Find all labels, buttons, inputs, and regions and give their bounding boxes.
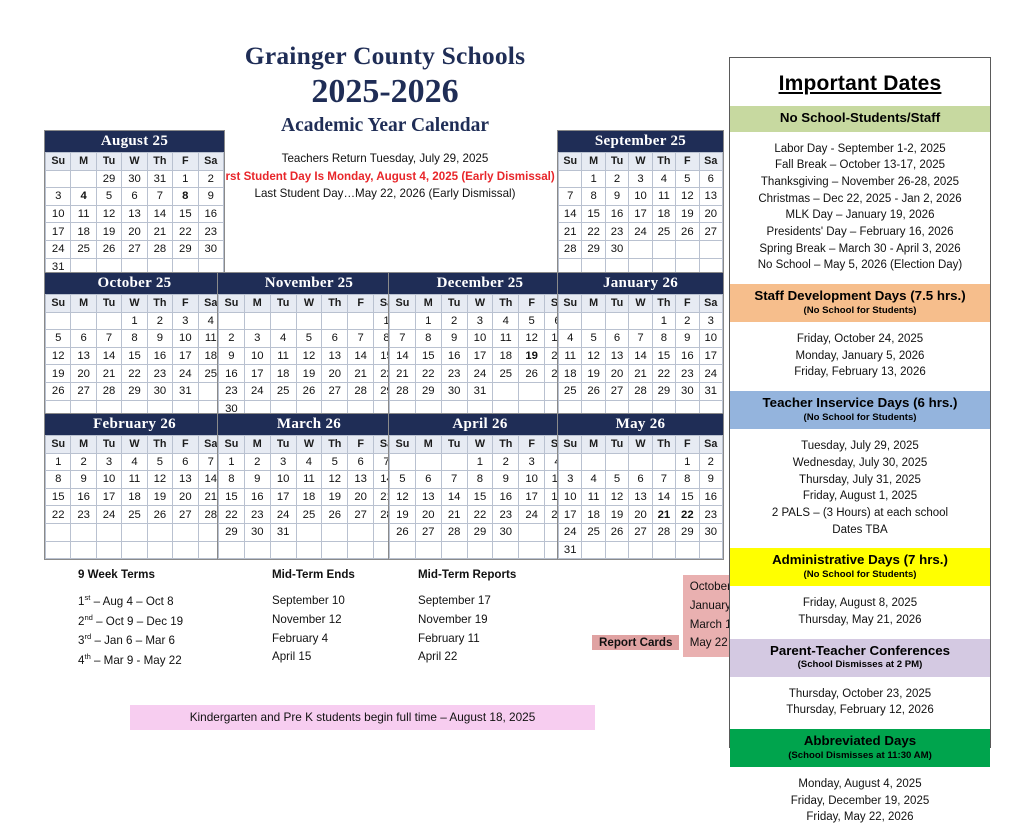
day-cell[interactable]: 1	[582, 170, 605, 188]
day-cell[interactable]: 13	[71, 347, 96, 365]
day-cell[interactable]: 3	[629, 170, 652, 188]
day-cell[interactable]: 20	[629, 506, 652, 524]
day-cell[interactable]: 1	[122, 312, 147, 330]
day-cell[interactable]: 23	[605, 223, 628, 241]
day-cell[interactable]: 27	[629, 523, 652, 541]
day-cell[interactable]: 26	[582, 382, 605, 400]
week-row: 45678910	[559, 330, 723, 348]
day-cell[interactable]: 27	[173, 506, 198, 524]
day-cell[interactable]: 17	[699, 347, 722, 365]
day-cell[interactable]: 2	[244, 453, 270, 471]
day-cell[interactable]: 20	[122, 223, 147, 241]
day-cell[interactable]: 1	[46, 453, 71, 471]
day-cell[interactable]: 21	[348, 365, 374, 383]
day-cell[interactable]: 10	[270, 471, 296, 489]
day-cell[interactable]: 3	[96, 453, 121, 471]
day-cell[interactable]: 13	[348, 471, 374, 489]
day-cell-empty	[559, 312, 582, 330]
day-cell[interactable]: 14	[96, 347, 121, 365]
day-cell[interactable]: 16	[676, 347, 699, 365]
day-cell[interactable]: 12	[390, 488, 416, 506]
day-cell[interactable]: 6	[322, 330, 348, 348]
day-cell[interactable]: 8	[582, 188, 605, 206]
day-cell[interactable]: 18	[122, 488, 147, 506]
day-cell[interactable]: 10	[519, 471, 545, 489]
week-row: 10111213141516	[559, 488, 723, 506]
legend-date-item: Wednesday, July 30, 2025	[734, 455, 986, 472]
day-cell[interactable]: 3	[559, 471, 582, 489]
day-cell[interactable]: 25	[122, 506, 147, 524]
day-cell[interactable]: 26	[519, 365, 545, 383]
weekday-header: Th	[147, 436, 172, 454]
day-cell[interactable]: 20	[322, 365, 348, 383]
day-cell[interactable]: 19	[605, 506, 628, 524]
day-cell[interactable]: 7	[652, 471, 675, 489]
day-cell[interactable]: 28	[390, 382, 416, 400]
day-cell[interactable]: 5	[296, 330, 322, 348]
day-cell[interactable]: 17	[270, 488, 296, 506]
day-cell[interactable]: 4	[296, 453, 322, 471]
day-cell[interactable]: 5	[390, 471, 416, 489]
day-cell[interactable]: 13	[322, 347, 348, 365]
day-cell[interactable]: 8	[46, 471, 71, 489]
day-cell[interactable]: 14	[390, 347, 416, 365]
day-cell[interactable]: 19	[390, 506, 416, 524]
day-cell[interactable]: 21	[559, 223, 582, 241]
day-cell[interactable]: 19	[46, 365, 71, 383]
day-cell[interactable]: 12	[46, 347, 71, 365]
day-cell[interactable]: 9	[198, 188, 223, 206]
day-cell[interactable]: 28	[441, 523, 467, 541]
day-cell[interactable]: 22	[676, 506, 699, 524]
day-cell[interactable]: 21	[441, 506, 467, 524]
day-cell[interactable]: 31	[173, 382, 198, 400]
day-cell[interactable]: 22	[122, 365, 147, 383]
day-cell[interactable]: 24	[519, 506, 545, 524]
day-cell[interactable]: 29	[219, 523, 245, 541]
day-cell[interactable]: 2	[441, 312, 467, 330]
day-cell[interactable]: 9	[699, 471, 722, 489]
day-cell[interactable]: 18	[652, 205, 675, 223]
week-row: 12	[559, 453, 723, 471]
day-cell[interactable]: 15	[652, 347, 675, 365]
day-cell[interactable]: 3	[244, 330, 270, 348]
day-cell[interactable]: 18	[559, 365, 582, 383]
day-cell[interactable]: 17	[46, 223, 71, 241]
day-cell[interactable]: 23	[244, 506, 270, 524]
day-cell[interactable]: 30	[493, 523, 519, 541]
week-row: 123456	[559, 170, 723, 188]
day-cell[interactable]: 7	[348, 330, 374, 348]
day-cell[interactable]: 13	[699, 188, 722, 206]
day-cell[interactable]: 25	[493, 365, 519, 383]
day-cell[interactable]: 19	[519, 347, 545, 365]
day-cell[interactable]: 13	[415, 488, 441, 506]
day-cell[interactable]: 4	[582, 471, 605, 489]
day-cell[interactable]: 8	[219, 471, 245, 489]
day-cell[interactable]: 9	[676, 330, 699, 348]
day-cell[interactable]: 3	[173, 312, 198, 330]
day-cell[interactable]: 9	[71, 471, 96, 489]
day-cell[interactable]: 10	[559, 488, 582, 506]
day-cell[interactable]: 10	[629, 188, 652, 206]
month-block: October 25SuMTuWThFSa1234567891011121314…	[44, 272, 225, 419]
day-cell[interactable]: 4	[71, 188, 96, 206]
day-cell[interactable]: 25	[71, 240, 96, 258]
day-cell[interactable]: 6	[629, 471, 652, 489]
day-cell[interactable]: 31	[467, 382, 493, 400]
day-cell[interactable]: 23	[441, 365, 467, 383]
day-cell[interactable]: 15	[467, 488, 493, 506]
day-cell[interactable]: 14	[147, 205, 172, 223]
day-cell[interactable]: 22	[173, 223, 198, 241]
day-cell[interactable]: 26	[296, 382, 322, 400]
day-cell[interactable]: 12	[296, 347, 322, 365]
day-cell[interactable]: 30	[244, 523, 270, 541]
day-cell[interactable]: 4	[493, 312, 519, 330]
day-cell[interactable]: 23	[198, 223, 223, 241]
day-cell[interactable]: 11	[582, 488, 605, 506]
day-cell[interactable]: 24	[629, 223, 652, 241]
day-cell[interactable]: 22	[219, 506, 245, 524]
day-cell[interactable]: 27	[699, 223, 722, 241]
day-cell[interactable]: 30	[198, 240, 223, 258]
day-cell[interactable]: 14	[629, 347, 652, 365]
day-cell[interactable]: 23	[219, 382, 245, 400]
day-cell[interactable]: 14	[348, 347, 374, 365]
day-cell[interactable]: 16	[441, 347, 467, 365]
day-cell[interactable]: 4	[122, 453, 147, 471]
day-cell[interactable]: 7	[441, 471, 467, 489]
day-cell[interactable]: 10	[96, 471, 121, 489]
day-cell[interactable]: 14	[652, 488, 675, 506]
day-cell[interactable]: 11	[296, 471, 322, 489]
day-cell[interactable]: 22	[46, 506, 71, 524]
day-cell[interactable]: 12	[322, 471, 348, 489]
day-cell[interactable]: 8	[415, 330, 441, 348]
day-cell[interactable]: 11	[652, 188, 675, 206]
day-cell[interactable]: 21	[390, 365, 416, 383]
day-cell[interactable]: 18	[71, 223, 96, 241]
day-cell[interactable]: 5	[605, 471, 628, 489]
day-cell[interactable]: 24	[46, 240, 71, 258]
day-cell[interactable]: 23	[147, 365, 172, 383]
day-cell[interactable]: 11	[559, 347, 582, 365]
day-cell[interactable]: 11	[493, 330, 519, 348]
day-cell[interactable]: 30	[676, 382, 699, 400]
day-cell[interactable]: 17	[467, 347, 493, 365]
day-cell[interactable]: 29	[415, 382, 441, 400]
day-cell[interactable]: 2	[71, 453, 96, 471]
day-cell[interactable]: 24	[699, 365, 722, 383]
weekday-header: W	[122, 153, 147, 171]
day-cell[interactable]: 29	[173, 240, 198, 258]
day-cell[interactable]: 5	[322, 453, 348, 471]
day-cell[interactable]: 2	[147, 312, 172, 330]
day-cell[interactable]: 30	[147, 382, 172, 400]
day-cell[interactable]: 23	[699, 506, 722, 524]
day-cell[interactable]: 9	[605, 188, 628, 206]
day-cell[interactable]: 12	[676, 188, 699, 206]
day-cell[interactable]: 25	[652, 223, 675, 241]
day-cell[interactable]: 30	[441, 382, 467, 400]
day-cell[interactable]: 7	[629, 330, 652, 348]
day-cell[interactable]: 5	[582, 330, 605, 348]
day-cell[interactable]: 17	[629, 205, 652, 223]
day-cell[interactable]: 25	[582, 523, 605, 541]
day-cell[interactable]: 3	[270, 453, 296, 471]
day-cell[interactable]: 1	[173, 170, 198, 188]
day-cell[interactable]: 28	[559, 240, 582, 258]
day-cell[interactable]: 29	[96, 170, 121, 188]
day-cell[interactable]: 14	[559, 205, 582, 223]
day-cell[interactable]: 19	[96, 223, 121, 241]
day-cell[interactable]: 24	[173, 365, 198, 383]
day-cell[interactable]: 1	[676, 453, 699, 471]
day-cell[interactable]: 20	[71, 365, 96, 383]
day-cell[interactable]: 15	[415, 347, 441, 365]
day-cell[interactable]: 1	[219, 453, 245, 471]
day-cell[interactable]: 16	[71, 488, 96, 506]
day-cell[interactable]: 12	[519, 330, 545, 348]
day-cell[interactable]: 26	[390, 523, 416, 541]
legend-date-item: Fall Break – October 13-17, 2025	[734, 157, 986, 174]
day-cell[interactable]: 12	[147, 471, 172, 489]
weekday-header: Tu	[441, 436, 467, 454]
day-cell[interactable]: 16	[493, 488, 519, 506]
day-cell[interactable]: 2	[198, 170, 223, 188]
day-cell[interactable]: 29	[122, 382, 147, 400]
day-cell-empty	[173, 541, 198, 559]
day-cell[interactable]: 1	[652, 312, 675, 330]
day-cell[interactable]: 11	[270, 347, 296, 365]
day-cell[interactable]: 17	[244, 365, 270, 383]
day-cell[interactable]: 28	[147, 240, 172, 258]
day-cell[interactable]: 11	[71, 205, 96, 223]
day-cell[interactable]: 3	[519, 453, 545, 471]
day-cell[interactable]: 20	[699, 205, 722, 223]
day-cell[interactable]: 21	[629, 365, 652, 383]
day-cell[interactable]: 31	[699, 382, 722, 400]
day-cell[interactable]: 18	[270, 365, 296, 383]
day-cell[interactable]: 3	[46, 188, 71, 206]
day-cell[interactable]: 26	[322, 506, 348, 524]
day-cell[interactable]: 27	[348, 506, 374, 524]
day-cell[interactable]: 25	[296, 506, 322, 524]
day-cell[interactable]: 7	[96, 330, 121, 348]
day-cell[interactable]: 8	[652, 330, 675, 348]
day-cell[interactable]: 29	[582, 240, 605, 258]
day-cell[interactable]: 3	[467, 312, 493, 330]
weekday-header: Su	[219, 436, 245, 454]
day-cell[interactable]: 15	[46, 488, 71, 506]
day-cell[interactable]: 8	[173, 188, 198, 206]
day-cell[interactable]: 12	[605, 488, 628, 506]
day-cell[interactable]: 6	[71, 330, 96, 348]
day-cell[interactable]: 8	[122, 330, 147, 348]
day-cell[interactable]: 30	[699, 523, 722, 541]
day-cell[interactable]: 5	[96, 188, 121, 206]
day-cell[interactable]: 1	[415, 312, 441, 330]
day-cell[interactable]: 15	[122, 347, 147, 365]
day-cell[interactable]: 19	[582, 365, 605, 383]
day-cell[interactable]: 16	[699, 488, 722, 506]
day-cell[interactable]: 16	[147, 347, 172, 365]
day-cell[interactable]: 15	[219, 488, 245, 506]
day-cell[interactable]: 22	[467, 506, 493, 524]
day-cell[interactable]: 16	[244, 488, 270, 506]
weekday-header: Tu	[605, 436, 628, 454]
day-cell[interactable]: 20	[415, 506, 441, 524]
day-cell[interactable]: 7	[147, 188, 172, 206]
day-cell[interactable]: 2	[605, 170, 628, 188]
day-cell[interactable]: 28	[96, 382, 121, 400]
day-cell[interactable]: 28	[629, 382, 652, 400]
day-cell[interactable]: 17	[559, 506, 582, 524]
day-cell[interactable]: 5	[147, 453, 172, 471]
day-cell[interactable]: 30	[122, 170, 147, 188]
day-cell[interactable]: 4	[270, 330, 296, 348]
day-cell[interactable]: 24	[467, 365, 493, 383]
day-cell[interactable]: 7	[559, 188, 582, 206]
day-cell[interactable]: 9	[219, 347, 245, 365]
day-cell[interactable]: 13	[122, 205, 147, 223]
day-cell[interactable]: 30	[605, 240, 628, 258]
day-cell[interactable]: 25	[559, 382, 582, 400]
day-cell[interactable]: 26	[605, 523, 628, 541]
day-cell[interactable]: 15	[676, 488, 699, 506]
day-cell[interactable]: 26	[676, 223, 699, 241]
day-cell[interactable]: 15	[173, 205, 198, 223]
day-cell[interactable]: 28	[652, 523, 675, 541]
day-cell[interactable]: 10	[699, 330, 722, 348]
day-cell[interactable]: 25	[270, 382, 296, 400]
day-cell[interactable]: 21	[147, 223, 172, 241]
day-cell[interactable]: 11	[122, 471, 147, 489]
day-cell[interactable]: 19	[676, 205, 699, 223]
day-cell[interactable]: 6	[415, 471, 441, 489]
day-cell[interactable]: 20	[605, 365, 628, 383]
legend-band-subtitle: (No School for Students)	[732, 412, 988, 424]
day-cell[interactable]: 16	[605, 205, 628, 223]
day-cell-empty	[390, 312, 416, 330]
day-cell[interactable]: 24	[96, 506, 121, 524]
day-cell[interactable]: 8	[676, 471, 699, 489]
day-cell[interactable]: 12	[96, 205, 121, 223]
day-cell[interactable]: 16	[219, 365, 245, 383]
day-cell[interactable]: 6	[173, 453, 198, 471]
day-cell[interactable]: 23	[71, 506, 96, 524]
day-cell[interactable]: 9	[147, 330, 172, 348]
day-cell[interactable]: 10	[244, 347, 270, 365]
day-cell[interactable]: 27	[71, 382, 96, 400]
day-cell[interactable]: 6	[605, 330, 628, 348]
legend-date-item: Friday, August 1, 2025	[734, 488, 986, 505]
day-cell[interactable]: 31	[270, 523, 296, 541]
day-cell[interactable]: 31	[559, 541, 582, 559]
day-cell[interactable]: 18	[296, 488, 322, 506]
day-cell[interactable]: 9	[493, 471, 519, 489]
day-cell[interactable]: 29	[676, 523, 699, 541]
day-cell[interactable]: 13	[629, 488, 652, 506]
day-cell[interactable]: 19	[322, 488, 348, 506]
day-cell[interactable]: 20	[173, 488, 198, 506]
day-cell[interactable]: 24	[244, 382, 270, 400]
day-cell[interactable]: 24	[559, 523, 582, 541]
day-cell[interactable]: 4	[559, 330, 582, 348]
month-grid: SuMTuWThFSa12345678910111213141516171819…	[558, 152, 723, 276]
day-cell[interactable]: 23	[493, 506, 519, 524]
day-cell[interactable]: 28	[348, 382, 374, 400]
day-cell[interactable]: 26	[147, 506, 172, 524]
day-cell[interactable]: 6	[348, 453, 374, 471]
day-cell[interactable]: 18	[493, 347, 519, 365]
day-cell[interactable]: 27	[122, 240, 147, 258]
day-cell[interactable]: 21	[652, 506, 675, 524]
day-cell[interactable]: 16	[198, 205, 223, 223]
day-cell[interactable]: 23	[676, 365, 699, 383]
day-cell[interactable]: 5	[676, 170, 699, 188]
day-cell[interactable]: 29	[467, 523, 493, 541]
day-cell[interactable]: 22	[582, 223, 605, 241]
day-cell[interactable]: 4	[652, 170, 675, 188]
month-header: August 25	[45, 131, 224, 152]
day-cell[interactable]: 5	[46, 330, 71, 348]
day-cell[interactable]: 29	[652, 382, 675, 400]
day-cell[interactable]: 2	[699, 453, 722, 471]
day-cell[interactable]: 22	[415, 365, 441, 383]
day-cell[interactable]: 18	[582, 506, 605, 524]
day-cell[interactable]: 2	[493, 453, 519, 471]
day-cell[interactable]: 20	[348, 488, 374, 506]
day-cell[interactable]: 9	[441, 330, 467, 348]
day-cell[interactable]: 17	[519, 488, 545, 506]
day-cell[interactable]: 17	[173, 347, 198, 365]
day-cell[interactable]: 27	[322, 382, 348, 400]
day-cell[interactable]: 2	[676, 312, 699, 330]
day-cell[interactable]: 14	[441, 488, 467, 506]
day-cell[interactable]: 2	[219, 330, 245, 348]
day-cell[interactable]: 27	[415, 523, 441, 541]
day-cell[interactable]: 5	[519, 312, 545, 330]
day-cell[interactable]: 31	[147, 170, 172, 188]
day-cell[interactable]: 10	[46, 205, 71, 223]
day-cell[interactable]: 24	[270, 506, 296, 524]
day-cell[interactable]: 10	[467, 330, 493, 348]
day-cell[interactable]: 17	[96, 488, 121, 506]
day-cell[interactable]: 15	[582, 205, 605, 223]
day-cell[interactable]: 26	[46, 382, 71, 400]
day-cell[interactable]: 27	[605, 382, 628, 400]
day-cell[interactable]: 21	[96, 365, 121, 383]
day-cell[interactable]: 19	[147, 488, 172, 506]
day-cell[interactable]: 9	[244, 471, 270, 489]
day-cell[interactable]: 12	[582, 347, 605, 365]
day-cell[interactable]: 10	[173, 330, 198, 348]
day-cell[interactable]: 6	[122, 188, 147, 206]
day-cell[interactable]: 13	[605, 347, 628, 365]
weekday-header: W	[296, 436, 322, 454]
day-cell[interactable]: 7	[390, 330, 416, 348]
day-cell[interactable]: 13	[173, 471, 198, 489]
day-cell[interactable]: 19	[296, 365, 322, 383]
day-cell[interactable]: 1	[467, 453, 493, 471]
day-cell[interactable]: 22	[652, 365, 675, 383]
day-cell[interactable]: 3	[699, 312, 722, 330]
day-cell[interactable]: 26	[96, 240, 121, 258]
day-cell[interactable]: 8	[467, 471, 493, 489]
day-cell[interactable]: 6	[699, 170, 722, 188]
